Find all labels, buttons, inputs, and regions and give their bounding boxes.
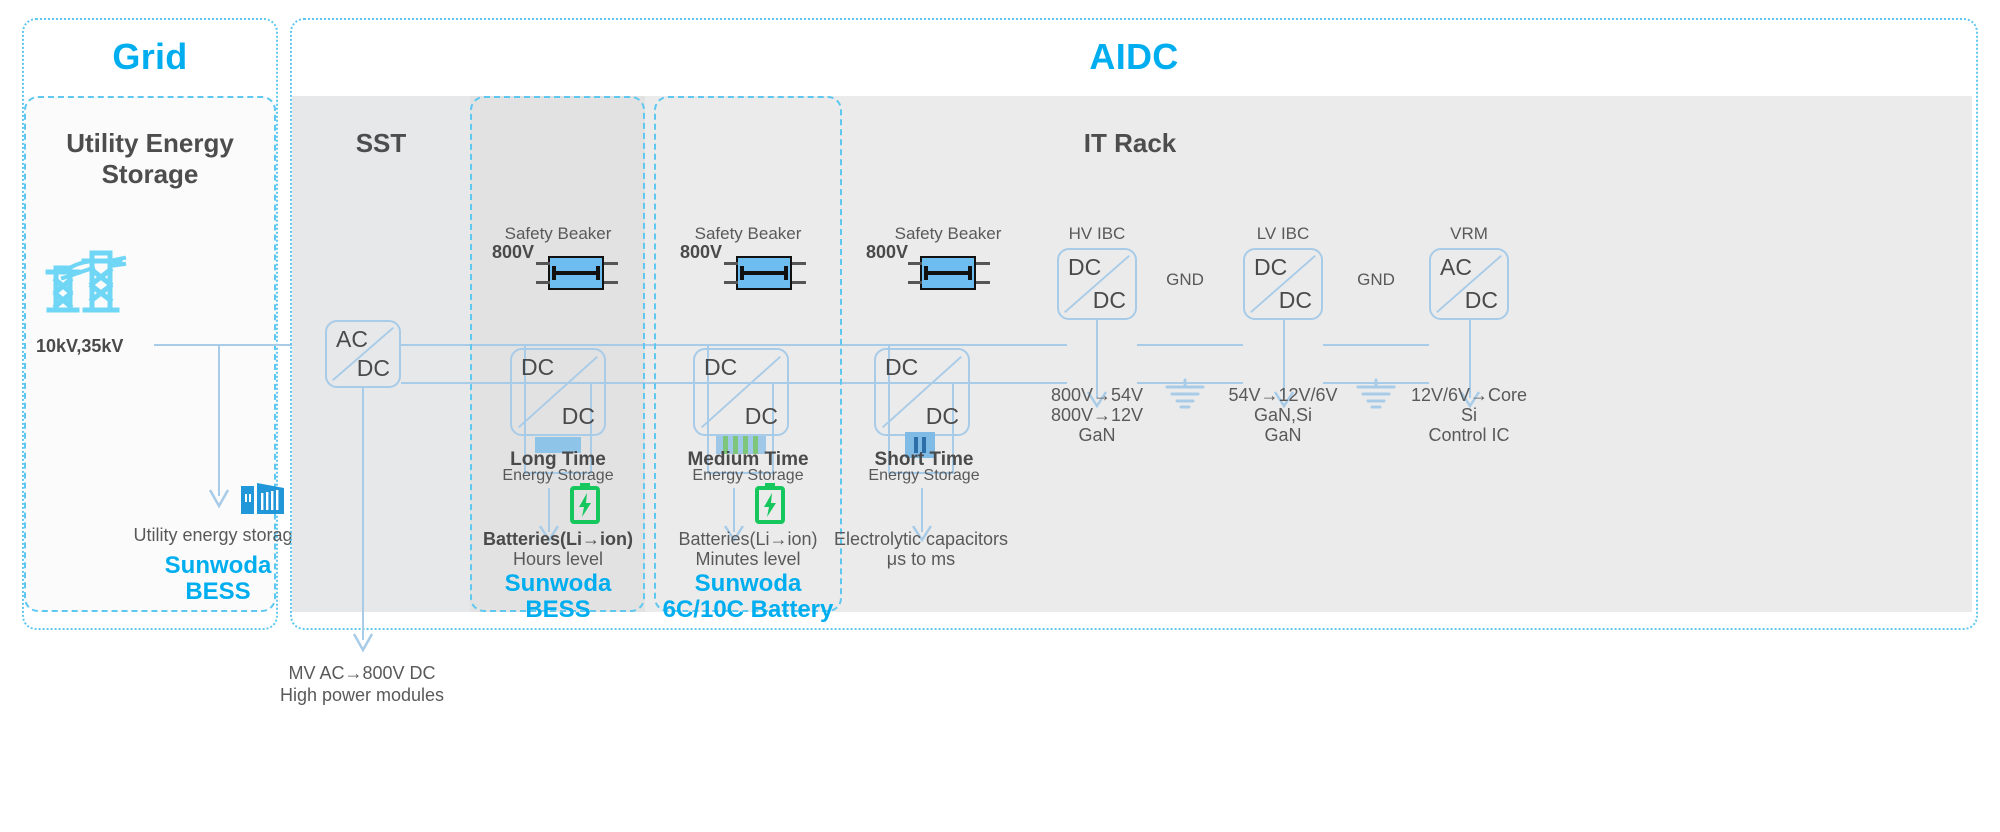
breaker-stub [604,262,618,265]
stage-medium-time-brand2: 6C/10C Battery [654,596,842,624]
breaker-stub [536,281,550,284]
converter-long-time-bottom: DC [562,403,595,430]
battery-bolt-icon [568,482,602,524]
breaker-stub [604,281,618,284]
converter-short-time[interactable]: DC DC [874,348,970,436]
converter-short-time-top: DC [885,354,918,381]
section-aidc-title: AIDC [290,36,1978,78]
converter-lv-ibc[interactable]: DC DC [1243,248,1323,320]
stage-medium-time-sublabel: Energy Storage [654,466,842,486]
breaker-stub [976,281,990,284]
stage-medium-time-desc2: Minutes level [654,548,842,571]
stage-medium-time-brand1: Sunwoda [654,570,842,598]
safety-breaker-medium-time[interactable] [736,256,792,290]
breaker-stub [908,262,922,265]
stage-long-time-breaker-voltage: 800V [492,242,534,263]
converter-hv-ibc[interactable]: DC DC [1057,248,1137,320]
stage-short-time-desc2: μs to ms [820,548,1022,571]
converter-vrm[interactable]: AC DC [1429,248,1509,320]
section-grid-title: Grid [22,36,278,78]
converter-sst[interactable]: AC DC [325,320,401,388]
breaker-stub [536,262,550,265]
stage-long-time-brand1: Sunwoda [470,570,646,598]
transmission-tower-icon [36,248,136,328]
grid-drop-wire [218,344,220,496]
safety-breaker-short-time[interactable] [920,256,976,290]
diagram-canvas: Grid Utility Energy Storage [0,0,2000,832]
gnd-label-1: GND [1150,270,1220,290]
breaker-stub [724,281,738,284]
stage-long-time-breaker-title: Safety Beaker [472,224,644,244]
converter-vrm-top: AC [1440,254,1472,281]
converter-medium-time-bottom: DC [745,403,778,430]
gnd-label-2: GND [1341,270,1411,290]
sst-caption-line2: High power modules [252,684,472,707]
safety-breaker-long-time[interactable] [548,256,604,290]
converter-hv-ibc-top: DC [1068,254,1101,281]
converter-medium-time[interactable]: DC DC [693,348,789,436]
stage-medium-time-breaker-title: Safety Beaker [656,224,840,244]
stage-long-time-brand2: BESS [470,596,646,624]
converter-long-time[interactable]: DC DC [510,348,606,436]
converter-long-time-top: DC [521,354,554,381]
battery-container-icon [240,480,286,516]
converter-vrm-bottom: DC [1465,287,1498,314]
panel-sst-title: SST [292,128,470,159]
panel-utility-title: Utility Energy Storage [24,128,276,190]
converter-lv-ibc-desc2: GaN [1192,424,1374,447]
grid-drop-arrow [206,488,232,510]
breaker-stub [792,262,806,265]
sst-output-wire [362,388,364,640]
converter-medium-time-top: DC [704,354,737,381]
grid-voltage-label: 10kV,35kV [36,336,146,357]
panel-it-rack-title: IT Rack [940,128,1320,159]
converter-hv-ibc-desc2: GaN [1006,424,1188,447]
stage-short-time-breaker-voltage: 800V [866,242,908,263]
breaker-stub [724,262,738,265]
converter-lv-ibc-top: DC [1254,254,1287,281]
converter-sst-top: AC [336,326,368,353]
converter-hv-ibc-title: HV IBC [1006,224,1188,244]
sst-caption-line1: MV AC→800V DC [252,662,472,685]
battery-bolt-icon [753,482,787,524]
stage-short-time-sublabel: Energy Storage [830,466,1018,486]
converter-vrm-desc2: Control IC [1378,424,1560,447]
breaker-stub [792,281,806,284]
breaker-stub [908,281,922,284]
stage-long-time-desc2: Hours level [470,548,646,571]
converter-lv-ibc-bottom: DC [1279,287,1312,314]
breaker-stub [976,262,990,265]
sst-output-arrow [350,632,376,654]
converter-lv-ibc-title: LV IBC [1192,224,1374,244]
converter-sst-bottom: DC [357,355,390,382]
converter-vrm-title: VRM [1378,224,1560,244]
converter-short-time-bottom: DC [926,403,959,430]
stage-medium-time-breaker-voltage: 800V [680,242,722,263]
converter-hv-ibc-bottom: DC [1093,287,1126,314]
stage-long-time-sublabel: Energy Storage [470,466,646,486]
hv-ibc-out-top [1137,344,1243,346]
lv-ibc-out-top [1323,344,1429,346]
